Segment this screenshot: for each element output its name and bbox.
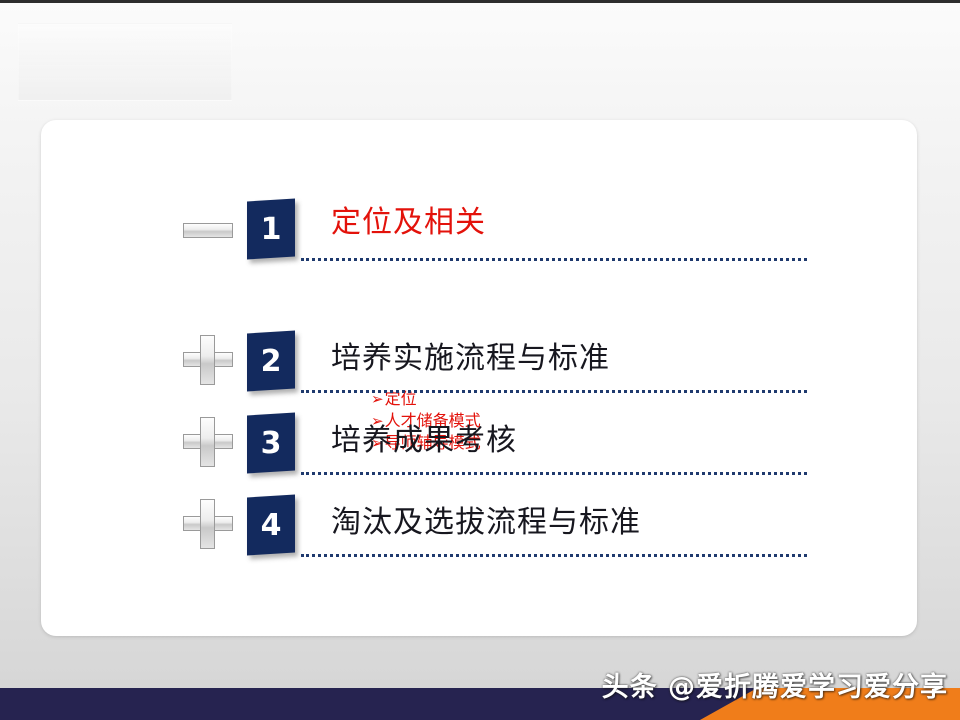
agenda-number-badge-2: 2 xyxy=(247,331,295,392)
agenda-divider-4 xyxy=(301,554,807,557)
agenda-number-badge-4: 4 xyxy=(247,495,295,556)
agenda-divider-3 xyxy=(301,472,807,475)
minus-icon-bar xyxy=(183,223,233,238)
agenda-number-badge-3: 3 xyxy=(247,413,295,474)
agenda-number-1: 1 xyxy=(247,200,295,258)
agenda-number-2: 2 xyxy=(247,332,295,390)
agenda-title-1[interactable]: 定位及相关 xyxy=(331,206,486,240)
agenda-number-badge-1: 1 xyxy=(247,199,295,260)
watermark-text: 头条 @爱折腾爱学习爱分享 xyxy=(602,665,948,704)
plus-icon-bar-vertical xyxy=(200,335,215,385)
content-card: 1 定位及相关 ➢定位 ➢人才储备模式 ➢导师辅导模式 xyxy=(41,120,917,636)
plus-icon[interactable] xyxy=(183,417,233,467)
title-placeholder[interactable] xyxy=(18,23,232,101)
agenda-number-4: 4 xyxy=(247,496,295,554)
agenda-title-3[interactable]: 培养成果考核 xyxy=(331,424,517,458)
plus-icon[interactable] xyxy=(183,335,233,385)
plus-icon[interactable] xyxy=(183,499,233,549)
agenda-divider-1 xyxy=(301,258,807,261)
plus-icon-bar-vertical xyxy=(200,417,215,467)
slide-canvas: 1 定位及相关 ➢定位 ➢人才储备模式 ➢导师辅导模式 xyxy=(0,0,960,720)
agenda-title-4[interactable]: 淘汰及选拔流程与标准 xyxy=(331,506,641,540)
minus-icon[interactable] xyxy=(183,206,233,256)
agenda-list: 1 定位及相关 ➢定位 ➢人才储备模式 ➢导师辅导模式 xyxy=(41,120,917,636)
agenda-divider-2 xyxy=(301,390,807,393)
agenda-number-3: 3 xyxy=(247,414,295,472)
plus-icon-bar-vertical xyxy=(200,499,215,549)
agenda-title-2[interactable]: 培养实施流程与标准 xyxy=(331,342,610,376)
